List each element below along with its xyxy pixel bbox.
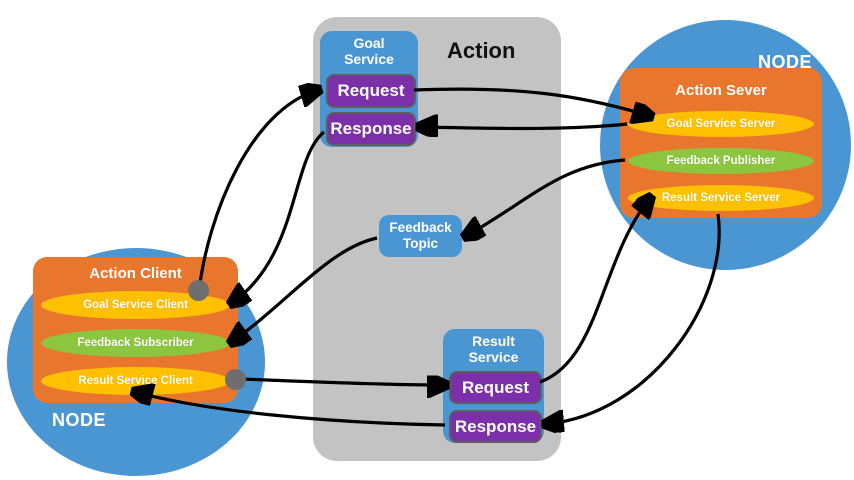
goal-service-title: Goal Service [320, 35, 418, 67]
action-title: Action [447, 38, 515, 64]
pill-result-service-server[interactable]: Result Service Server [628, 185, 814, 211]
goal-service-title-line2: Service [320, 51, 418, 67]
goal-client-connector-dot [188, 280, 209, 301]
pill-feedback-publisher[interactable]: Feedback Publisher [628, 148, 814, 174]
result-client-connector-dot [225, 369, 246, 390]
goal-service-response[interactable]: Response [326, 112, 416, 146]
pill-result-service-server-label: Result Service Server [662, 192, 780, 204]
action-server-title: Action Sever [620, 82, 822, 99]
diagram-canvas: Action NODE Action Client Goal Service C… [0, 0, 854, 480]
feedback-topic-label: Feedback Topic [389, 220, 451, 252]
result-service-title-line1: Result [443, 333, 544, 349]
result-service-response[interactable]: Response [449, 410, 542, 443]
goal-service-request-label: Request [337, 81, 404, 101]
pill-goal-service-server[interactable]: Goal Service Server [628, 111, 814, 137]
action-client-title: Action Client [33, 265, 238, 282]
pill-goal-service-server-label: Goal Service Server [667, 118, 776, 130]
pill-feedback-publisher-label: Feedback Publisher [667, 155, 776, 167]
pill-goal-service-client-label: Goal Service Client [83, 299, 188, 311]
pill-feedback-subscriber-label: Feedback Subscriber [77, 337, 193, 349]
pill-result-service-client-label: Result Service Client [78, 375, 192, 387]
result-service-request[interactable]: Request [449, 371, 542, 404]
result-service-response-label: Response [455, 417, 536, 437]
arrow-response-to-goal-client [232, 132, 324, 303]
goal-service-request[interactable]: Request [326, 74, 416, 108]
pill-feedback-subscriber[interactable]: Feedback Subscriber [41, 329, 230, 357]
pill-result-service-client[interactable]: Result Service Client [41, 367, 230, 395]
feedback-topic-line1: Feedback [389, 220, 451, 236]
feedback-topic-box[interactable]: Feedback Topic [379, 215, 462, 257]
goal-service-response-label: Response [330, 119, 411, 139]
goal-service-title-line1: Goal [320, 35, 418, 51]
feedback-topic-line2: Topic [389, 236, 451, 252]
result-service-request-label: Request [462, 378, 529, 398]
result-service-title-line2: Service [443, 349, 544, 365]
result-service-title: Result Service [443, 333, 544, 365]
client-node-label: NODE [52, 410, 106, 431]
